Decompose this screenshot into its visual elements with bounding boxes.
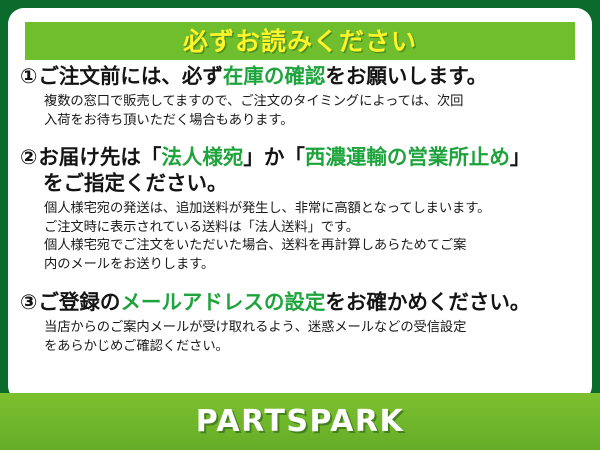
- notice-item-2: ② お届け先は「 法人様宛 」か「 西濃運輸の営業所止め 」 をご指定ください。…: [8, 145, 592, 275]
- notice-item-3-heading-highlight: メールアドレスの設定: [120, 290, 325, 316]
- notice-item-1-heading-highlight: 在庫の確認: [223, 64, 326, 90]
- notice-item-1-heading-part-3: をお願いします。: [325, 64, 487, 90]
- notice-item-1-heading: ① ご注文前には、必ず 在庫の確認 をお願いします。: [8, 64, 592, 90]
- notice-banner: 必ずお読みください ① ご注文前には、必ず 在庫の確認 をお願いします。 複数の…: [0, 0, 600, 450]
- notice-item-3-body-line-1: 当店からのご案内メールが受け取れるよう、迷惑メールなどの受信設定: [44, 319, 592, 338]
- notice-item-1-body-line-1: 複数の窓口で販売してますので、ご注文のタイミングによっては、次回: [44, 93, 592, 112]
- notice-item-3-heading-part-3: をお確かめください。: [325, 290, 530, 316]
- notice-panel: 必ずお読みください ① ご注文前には、必ず 在庫の確認 をお願いします。 複数の…: [8, 8, 592, 400]
- notice-item-2-heading-highlight-1: 法人様宛: [161, 145, 243, 171]
- notice-item-3-body-line-2: をあらかじめご確認ください。: [44, 338, 592, 357]
- notice-item-2-heading-part-5: 」: [510, 145, 531, 171]
- notice-item-2-body-line-2: ご注文時に表示されている送料は「法人送料」です。: [44, 219, 592, 238]
- notice-item-1-body-line-2: 入荷をお待ち頂いただく場合もあります。: [44, 112, 592, 131]
- notice-item-3-heading: ③ ご登録の メールアドレスの設定 をお確かめください。: [8, 290, 592, 316]
- notice-item-2-heading-highlight-2: 西濃運輸の営業所止め: [305, 145, 510, 171]
- notice-item-1-heading-part-1: ご注文前には、必ず: [38, 64, 223, 90]
- banner-title: 必ずお読みください: [183, 29, 417, 54]
- brand-logo: PARTSPARK: [196, 407, 405, 437]
- notice-item-2-heading-part-3: 」か「: [243, 145, 305, 171]
- notice-list: ① ご注文前には、必ず 在庫の確認 をお願いします。 複数の窓口で販売してますの…: [8, 64, 592, 357]
- notice-item-2-body: 個人様宅宛の発送は、追加送料が発生し、非常に高額となってしまいます。 ご注文時に…: [8, 200, 592, 276]
- notice-item-2-heading: ② お届け先は「 法人様宛 」か「 西濃運輸の営業所止め 」: [8, 145, 592, 171]
- notice-item-2-body-line-1: 個人様宅宛の発送は、追加送料が発生し、非常に高額となってしまいます。: [44, 200, 592, 219]
- notice-item-1-number: ①: [20, 64, 37, 90]
- notice-item-1-body: 複数の窓口で販売してますので、ご注文のタイミングによっては、次回 入荷をお待ち頂…: [8, 93, 592, 131]
- notice-item-2-heading-part-1: お届け先は「: [38, 145, 161, 171]
- notice-item-3-body: 当店からのご案内メールが受け取れるよう、迷惑メールなどの受信設定 をあらかじめご…: [8, 319, 592, 357]
- footer-bar: PARTSPARK: [0, 393, 600, 450]
- notice-item-2-heading-line-2: をご指定ください。: [8, 171, 592, 197]
- notice-item-3: ③ ご登録の メールアドレスの設定 をお確かめください。 当店からのご案内メール…: [8, 290, 592, 356]
- notice-item-1: ① ご注文前には、必ず 在庫の確認 をお願いします。 複数の窓口で販売してますの…: [8, 64, 592, 130]
- notice-item-3-heading-part-1: ご登録の: [38, 290, 120, 316]
- title-bar: 必ずお読みください: [25, 22, 575, 60]
- notice-item-2-body-line-4: 内のメールをお送りします。: [44, 256, 592, 275]
- notice-item-2-number: ②: [20, 145, 37, 171]
- notice-item-3-number: ③: [20, 290, 37, 316]
- notice-item-2-body-line-3: 個人様宅宛でご注文をいただいた場合、送料を再計算しあらためてご案: [44, 237, 592, 256]
